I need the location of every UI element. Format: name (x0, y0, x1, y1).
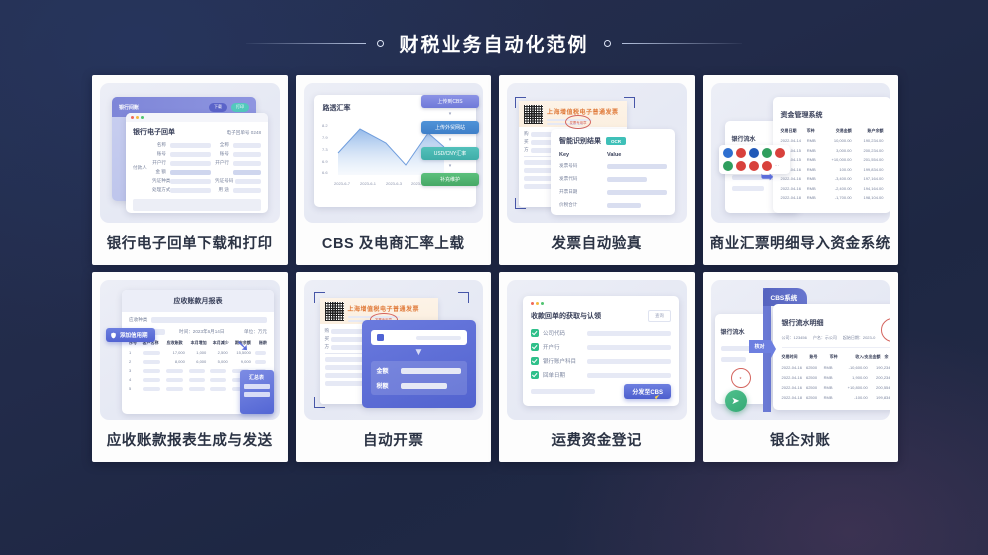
table-cell (210, 378, 227, 382)
table-row: 28,0006,0005,0009,000 (129, 359, 267, 364)
col-header: 本月增加 (191, 340, 210, 346)
meta-start-date: 起始日期：2023-0 (843, 335, 875, 341)
table-cell: +10,800.00 (839, 385, 868, 390)
chevron-down-icon: ▼ (362, 347, 476, 358)
card-label: 银企对账 (703, 420, 899, 462)
funds-table-rows: 2022-04-14RMB10,000.00190,234.002022-04-… (773, 134, 891, 200)
meta-company: 公司：123456 (782, 335, 807, 341)
value-placeholder (587, 359, 671, 364)
more-logos-ellipsis: ··· (775, 161, 786, 171)
card-grid: 银行间账 下载 打印 银行电子回单 电子回单号 0248 (92, 75, 898, 462)
table-row: 2022-04-1862500RMB-100.00199,834 (782, 395, 891, 400)
ocr-row: 发票号码 (559, 163, 667, 169)
table-cell: 6,000 (189, 359, 206, 364)
mock-doc-dots (126, 113, 268, 122)
value-placeholder (587, 373, 671, 378)
card-label: 应收账款报表生成与发送 (92, 420, 288, 462)
table-cell: RMB (824, 385, 835, 390)
page-title: 财税业务自动化范例 (395, 30, 592, 57)
chevron-down-icon-2: ▾ (421, 139, 479, 142)
meta-account-name: 户名：示公司 (813, 335, 837, 341)
table-cell: 200,554 (872, 385, 890, 390)
funds-system-title: 资金管理系统 (781, 112, 823, 119)
table-row: 2022-04-16RMB-3,400.00197,164.00 (781, 176, 884, 181)
bank-flow-title: 银行流水 (732, 137, 756, 143)
table-cell: 62500 (806, 375, 820, 380)
table-row: 2022-04-15RMB+10,000.00201,554.00 (781, 157, 884, 162)
table-cell (210, 369, 227, 373)
svg-text:2023-6-7: 2023-6-7 (334, 181, 351, 186)
download-pill: 下载 (209, 103, 227, 112)
table-cell: RMB (807, 186, 820, 191)
scan-bracket-tr (458, 292, 469, 303)
thumbnail-freight-registration: 收款回单的获取与认领 查询 公司代码开户行银行账户科目回单日期 分发至CBS (507, 280, 687, 420)
title-line-right (622, 43, 742, 44)
checkbox-checked-icon[interactable] (377, 334, 384, 341)
ocr-col-key: Key (559, 152, 607, 158)
checkbox-checked-icon[interactable] (531, 329, 539, 337)
checklist-label: 开户行 (543, 343, 583, 351)
thumbnail-bank-receipt: 银行间账 下载 打印 银行电子回单 电子回单号 0248 (100, 83, 280, 223)
card-ar-report[interactable]: 应收账款月报表 应收种类 时间：2023年6月14日 单位：万元 序号 客户名称… (92, 272, 288, 462)
thumbnail-invoice-verify: 上海增值税电子普通发票 发票专用章 购 买 方 (507, 83, 687, 223)
table-cell: 200,234 (872, 375, 890, 380)
col-header: 交易时间 (782, 354, 806, 360)
mock-window-title: 银行间账 (119, 104, 139, 111)
card-label: 运费资金登记 (499, 420, 695, 462)
ocr-badge: OCR (606, 137, 626, 145)
table-cell: 2022-04-16 (782, 375, 802, 380)
table-row: 2022-04-1662500RMB-10,600.00190,234 (782, 365, 891, 370)
table-cell: 4 (129, 377, 139, 382)
svg-text:8.2: 8.2 (322, 123, 328, 128)
claim-panel-title: 收款回单的获取与认领 (531, 311, 601, 321)
svg-text:7.3: 7.3 (322, 147, 328, 152)
reconcile-flag: 核对 (749, 340, 771, 353)
ocr-key: 开票日期 (559, 189, 603, 195)
card-cbs-exchange-rate[interactable]: 路透汇率 8.27.97.3 6.96.6 2023-6-72023- (296, 75, 492, 265)
table-cell: 2022-04-18 (782, 395, 802, 400)
svg-text:2023-6-3: 2023-6-3 (386, 181, 403, 186)
ocr-panel-title: 智能识别结果 (559, 136, 601, 146)
shield-icon (110, 332, 117, 339)
checkbox-checked-icon[interactable] (531, 357, 539, 365)
ocr-col-value: Value (607, 152, 621, 158)
query-button[interactable]: 查询 (648, 310, 671, 322)
print-pill: 打印 (231, 103, 249, 112)
stamp-text: 发票专用章 (570, 120, 587, 125)
table-cell: 190,234 (872, 365, 890, 370)
checklist-label: 回单日期 (543, 371, 583, 379)
table-cell: 197,164.00 (856, 176, 884, 181)
svg-text:6.6: 6.6 (322, 170, 328, 175)
title-line-left (246, 43, 366, 44)
table-cell: RMB (824, 375, 835, 380)
table-cell: 2022-04-14 (781, 138, 803, 143)
window-dots (131, 116, 144, 119)
table-cell (210, 387, 227, 391)
page-title-row: 财税业务自动化范例 (0, 30, 988, 57)
doc-icon-label: 汇总表 (244, 374, 270, 381)
field-tax-label: 税额 (377, 381, 397, 390)
table-cell: RMB (807, 148, 820, 153)
chevron-down-icon-3: ▾ (421, 165, 479, 168)
checkbox-checked-icon[interactable] (531, 343, 539, 351)
table-cell: RMB (807, 176, 820, 181)
table-cell: 199,834.00 (856, 167, 884, 172)
payer-label: 付款人 (133, 165, 149, 171)
table-cell: -10,600.00 (839, 365, 868, 370)
table-cell: 198,104.00 (856, 195, 884, 200)
table-cell: 2,500 (210, 350, 227, 355)
mock-receipt-doc: 银行电子回单 电子回单号 0248 付款人 名称全称 账号账号 开户行开户行 金… (126, 113, 268, 213)
card-invoice-verification[interactable]: 上海增值税电子普通发票 发票专用章 购 买 方 (499, 75, 695, 265)
card-label: 商业汇票明细导入资金系统 (703, 223, 899, 265)
table-cell: RMB (824, 395, 835, 400)
card-label: CBS 及电商汇率上载 (296, 223, 492, 265)
thumbnail-reconciliation: 银行流水 财务专用章★ CBS系统 银行流水明细 公司：123456 户名：示公… (711, 280, 891, 420)
table-cell (189, 369, 206, 373)
table-cell: 1 (129, 350, 139, 355)
table-cell: +10,000.00 (824, 157, 852, 162)
btn-usd-cny-rate[interactable]: USD/CNY汇率 (421, 147, 479, 160)
thumbnail-exchange-rate: 路透汇率 8.27.97.3 6.96.6 2023-6-72023- (304, 83, 484, 223)
table-cell: -3,400.00 (824, 176, 852, 181)
card-freight-fund-registration[interactable]: 收款回单的获取与认领 查询 公司代码开户行银行账户科目回单日期 分发至CBS 运… (499, 272, 695, 462)
table-cell: 17,000 (166, 350, 185, 355)
ocr-key: 发票号码 (559, 163, 603, 169)
table-cell (255, 360, 267, 364)
checklist-item[interactable]: 公司代码 (531, 329, 671, 337)
receipt-meta: 电子回单号 0248 (227, 130, 261, 136)
table-cell: 9,000 (232, 359, 251, 364)
col-header: 交易金额 (823, 128, 852, 134)
ocr-key: 发票代码 (559, 176, 603, 182)
ocr-row: 价税合计 (559, 202, 667, 208)
card-bank-enterprise-reconciliation[interactable]: 银行流水 财务专用章★ CBS系统 银行流水明细 公司：123456 户名：示公… (703, 272, 899, 462)
invoice-title: 上海增值税电子普通发票 (547, 107, 622, 116)
table-cell: 8,000 (166, 359, 185, 364)
table-cell: 2022-04-16 (781, 186, 803, 191)
table-row: 2022-04-16RMB100.00199,834.00 (781, 167, 884, 172)
upload-action-buttons: 上传到CBS ▾ 上传外贸网站 ▾ USD/CNY汇率 ▾ 补充维护 (421, 95, 479, 186)
invoice-title: 上海增值税电子普通发票 (348, 304, 433, 313)
card-commercial-draft-import[interactable]: 银行流水 资金管理系统 交易日期 币种 交易金额 账户余额 2022- (703, 75, 899, 265)
table-cell (143, 351, 162, 355)
bank-logo-icon (775, 148, 785, 158)
send-icon: ➤ (725, 390, 747, 412)
table-cell: 3,000.00 (824, 148, 852, 153)
qr-code-icon (524, 105, 543, 124)
table-row: 2022-04-14RMB10,000.00190,234.00 (781, 138, 884, 143)
btn-upload-cbs[interactable]: 上传到CBS (421, 95, 479, 108)
checklist-rows: 公司代码开户行银行账户科目回单日期 (523, 322, 679, 379)
table-cell: 2 (129, 359, 139, 364)
table-cell: RMB (807, 157, 820, 162)
table-cell: 1,900.00 (839, 375, 868, 380)
invoice-stamp: 发票专用章 (565, 115, 591, 129)
table-cell: 2022-04-16 (781, 176, 803, 181)
table-row: 2022-04-1662500RMB+10,800.00200,554 (782, 385, 891, 390)
table-cell (189, 378, 206, 382)
checkbox-checked-icon[interactable] (531, 371, 539, 379)
ar-report-title: 应收账款月报表 (174, 296, 223, 306)
ar-meta-period: 时间：2023年6月14日 (179, 329, 224, 335)
table-cell: 3 (129, 368, 139, 373)
flow-detail-title: 银行流水明细 (782, 320, 824, 327)
card-label: 发票自动验真 (499, 223, 695, 265)
col-header: 币种 (830, 354, 843, 360)
bank-logos-box: ··· (719, 145, 790, 174)
table-cell: 62500 (806, 385, 820, 390)
qr-code-icon (325, 302, 344, 321)
table-cell: 5 (129, 386, 139, 391)
table-cell: 2022-04-18 (781, 195, 803, 200)
checklist-item[interactable]: 开户行 (531, 343, 671, 351)
arrow-down-right-icon: ➘ (236, 336, 249, 356)
value-placeholder (587, 345, 671, 350)
table-cell: 62500 (806, 395, 820, 400)
col-header: 收入/支出金额 (847, 354, 881, 360)
col-header: 本月减少 (213, 340, 232, 346)
table-row: 2022-04-1662500RMB1,900.00200,234 (782, 375, 891, 380)
btn-upload-trade-site[interactable]: 上传外贸网站 (421, 121, 479, 134)
table-cell: RMB (807, 167, 820, 172)
ocr-row: 开票日期 (559, 189, 667, 195)
arrow-right-icon: ➥ (761, 167, 774, 187)
card-label: 银行电子回单下载和打印 (92, 223, 288, 265)
card-auto-invoicing[interactable]: 上海增值税电子普通发票 发票专用章 购 买 方 (296, 272, 492, 462)
ar-meta-unit: 单位：万元 (244, 329, 267, 335)
card-label: 自动开票 (296, 420, 492, 462)
table-cell: 200,234.00 (856, 148, 884, 153)
table-cell (143, 360, 162, 364)
bank-logo-icon (736, 148, 746, 158)
bank-logo-icon (723, 148, 733, 158)
svg-text:6.9: 6.9 (322, 159, 328, 164)
mock-receipt-claim-panel: 收款回单的获取与认领 查询 公司代码开户行银行账户科目回单日期 分发至CBS (523, 296, 679, 406)
distribute-to-cbs-button[interactable]: 分发至CBS (624, 384, 671, 399)
mock-window-actions: 下载 打印 (209, 103, 249, 112)
table-cell: 2022-04-16 (782, 365, 802, 370)
title-dot-right (604, 40, 611, 47)
table-cell (143, 378, 162, 382)
ocr-result-panel: 智能识别结果 OCR Key Value 发票号码 发票代码 开票日期 价税合计 (551, 129, 675, 215)
bank-logo-icon (723, 161, 733, 171)
table-cell: 62500 (806, 365, 820, 370)
table-cell: -2,400.00 (824, 186, 852, 191)
mock-flow-detail-table: 银行流水明细 公司：123456 户名：示公司 起始日期：2023-0 交易时间… (773, 304, 891, 410)
mock-funds-table: 资金管理系统 交易日期 币种 交易金额 账户余额 2022-04-14RMB10… (773, 97, 891, 213)
table-cell: 100.00 (824, 167, 852, 172)
table-cell (166, 369, 185, 373)
ocr-row: 发票代码 (559, 176, 667, 182)
table-cell: -1,700.00 (824, 195, 852, 200)
add-credit-period-badge[interactable]: 添加信用期 (106, 328, 155, 342)
bank-logo-icon (762, 148, 772, 158)
bank-logo-icon (749, 148, 759, 158)
table-cell (189, 387, 206, 391)
col-header: 账号 (810, 354, 826, 360)
table-cell (166, 387, 185, 391)
table-cell (143, 387, 162, 391)
title-dot-left (377, 40, 384, 47)
checklist-item[interactable]: 回单日期 (531, 371, 671, 379)
col-header: 交易日期 (781, 128, 804, 134)
table-cell: RMB (807, 138, 820, 143)
ocr-key: 价税合计 (559, 202, 603, 208)
table-cell: 194,164.00 (856, 186, 884, 191)
checklist-item[interactable]: 银行账户科目 (531, 357, 671, 365)
bank-flow-title: 银行流水 (721, 330, 745, 336)
bank-logo-icon (736, 161, 746, 171)
table-cell: 10,000.00 (824, 138, 852, 143)
table-cell: 201,554.00 (856, 157, 884, 162)
svg-text:7.9: 7.9 (322, 135, 328, 140)
field-invoice-number-label: 发票号码 (389, 334, 411, 342)
table-cell: 1,000 (189, 350, 206, 355)
thumbnail-draft-import: 银行流水 资金管理系统 交易日期 币种 交易金额 账户余额 2022- (711, 83, 891, 223)
company-stamp: 财务专用章★ (731, 368, 751, 388)
thumbnail-auto-invoice: 上海增值税电子普通发票 发票专用章 购 买 方 (304, 280, 484, 420)
value-placeholder (587, 331, 671, 336)
table-cell: 199,834 (872, 395, 890, 400)
thumbnail-ar-report: 应收账款月报表 应收种类 时间：2023年6月14日 单位：万元 序号 客户名称… (100, 280, 280, 420)
table-row: 2022-04-15RMB3,000.00200,234.00 (781, 148, 884, 153)
receipt-title: 银行电子回单 (133, 127, 175, 137)
table-cell: RMB (807, 195, 820, 200)
svg-text:2023-6-1: 2023-6-1 (360, 181, 377, 186)
bank-logo-icon (749, 161, 759, 171)
ar-filter-label: 应收种类 (129, 317, 147, 323)
table-row: 2022-04-16RMB-2,400.00194,164.00 (781, 186, 884, 191)
table-cell (166, 378, 185, 382)
col-header: 账龄 (259, 340, 267, 346)
col-header: 应收账款 (167, 340, 188, 346)
table-row: 2022-04-18RMB-1,700.00198,104.00 (781, 195, 884, 200)
flow-table-rows: 2022-04-1662500RMB-10,600.00190,2342022-… (773, 360, 891, 400)
table-cell: -100.00 (839, 395, 868, 400)
chevron-down-icon-1: ▾ (421, 113, 479, 116)
col-header: 余 (885, 354, 889, 360)
card-bank-receipt[interactable]: 银行间账 下载 打印 银行电子回单 电子回单号 0248 (92, 75, 288, 265)
col-header: 账户余额 (855, 128, 884, 134)
badge-label: 添加信用期 (120, 331, 148, 339)
table-cell: RMB (824, 365, 835, 370)
table-cell (255, 351, 267, 355)
field-amount-label: 金额 (377, 366, 397, 375)
checklist-label: 公司代码 (543, 329, 583, 337)
table-cell (143, 369, 162, 373)
col-header: 币种 (807, 128, 820, 134)
invoice-fields-panel: 发票号码 ▼ 金额 税额 (362, 320, 476, 408)
btn-supplementary-maintain[interactable]: 补充维护 (421, 173, 479, 186)
table-cell: 5,000 (210, 359, 227, 364)
summary-doc-icon: 汇总表 (240, 370, 274, 414)
table-cell: 190,234.00 (856, 138, 884, 143)
table-cell: 2022-04-16 (782, 385, 802, 390)
checklist-label: 银行账户科目 (543, 357, 583, 365)
